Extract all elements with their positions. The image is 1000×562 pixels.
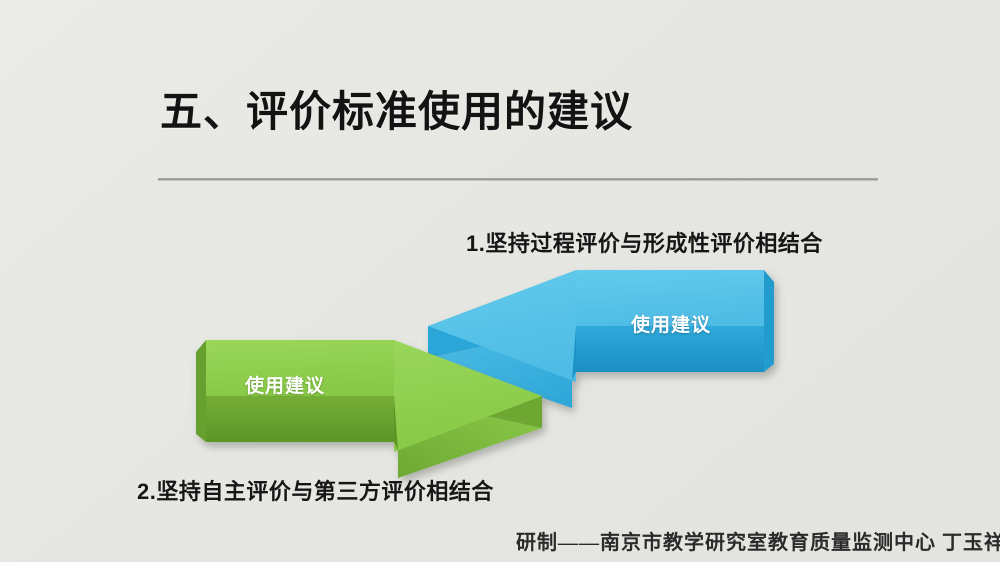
arrow-green-shaft-side xyxy=(206,396,394,442)
callout-point-1: 1.坚持过程评价与形成性评价相结合 xyxy=(466,226,823,258)
slide-canvas: 五、评价标准使用的建议 xyxy=(0,0,1000,562)
callout-point-2: 2.坚持自主评价与第三方评价相结合 xyxy=(137,474,494,506)
title-divider xyxy=(158,178,878,181)
page-title: 五、评价标准使用的建议 xyxy=(160,88,633,136)
arrow-blue-label: 使用建议 xyxy=(631,310,711,337)
arrow-green-label: 使用建议 xyxy=(245,371,325,398)
arrow-blue-tail-cap xyxy=(764,270,774,372)
arrow-green-tail-cap xyxy=(196,340,206,442)
arrow-green xyxy=(196,338,546,478)
footer-credit: 研制——南京市教学研究室教育质量监测中心 丁玉祥 xyxy=(516,526,1000,555)
